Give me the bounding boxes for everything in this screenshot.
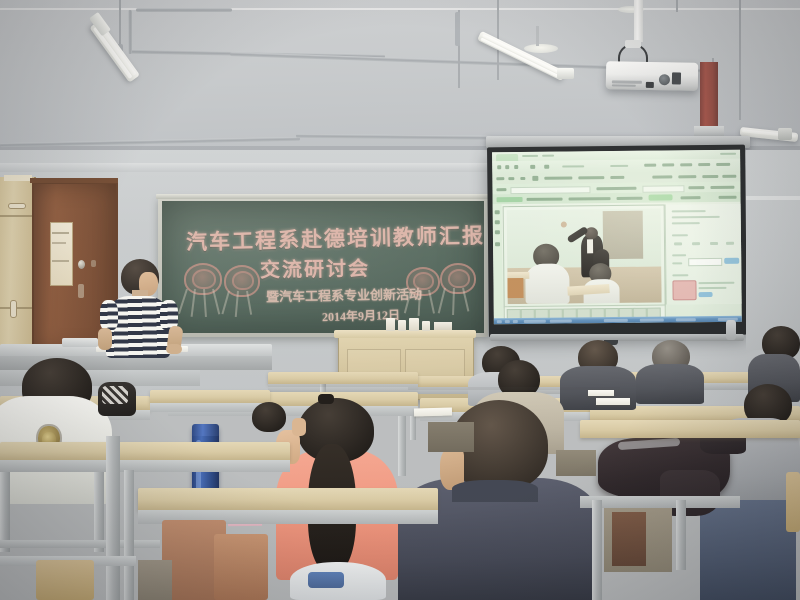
floor-door-glimpse [612, 512, 646, 566]
screen-side-bracket [726, 320, 736, 340]
app-side-panel [665, 204, 742, 305]
desk-front-right-front [580, 496, 740, 508]
depth-shadow-2 [408, 387, 620, 390]
floor-patch-4 [556, 450, 596, 476]
door-handle[interactable] [78, 284, 84, 298]
right-wall-trim [746, 196, 800, 200]
podium-item-2 [398, 320, 406, 331]
door-knob[interactable] [78, 260, 85, 269]
chair-back-bottom-left [36, 560, 94, 600]
attendee-back-right-body [636, 364, 704, 404]
desk-front-right-leg [592, 500, 602, 600]
door-lock [91, 260, 96, 267]
podium-item-4 [422, 321, 430, 331]
desk-row3-top [268, 372, 418, 384]
presenter-sleeve-left [100, 300, 118, 330]
ceiling-rod-cap-2 [455, 12, 460, 46]
attendee-navy-collar [452, 480, 538, 502]
classroom-photo: 汽车工程系赴德培训教师汇报 交流研讨会 暨汽车工程系专业创新活动 2014年9月… [0, 0, 800, 600]
app-panel-button[interactable] [699, 292, 713, 297]
desk-row2-leg [398, 416, 406, 476]
ceiling-projector [606, 61, 698, 91]
projector-bracket [625, 40, 641, 48]
os-taskbar[interactable] [494, 316, 742, 325]
chair-back-bottom-mid2 [214, 534, 268, 600]
blackboard: 汽车工程系赴德培训教师汇报 交流研讨会 暨汽车工程系专业创新活动 2014年9月… [162, 201, 484, 333]
fluorescent-right-ballast [778, 128, 792, 140]
app-green-button[interactable] [649, 194, 673, 200]
cap-logo [308, 572, 344, 588]
projection-screen [492, 150, 742, 325]
desk-paper-5 [588, 390, 614, 396]
desk-front-left-front [0, 460, 290, 472]
conduit-pipe-top [136, 8, 232, 12]
desk-front-mid-top [138, 488, 438, 510]
desk-front-right-top [580, 420, 800, 438]
depth-shadow-1 [268, 384, 418, 387]
presenter [0, 0, 64, 62]
blackboard-subline: 交流研讨会 [260, 252, 370, 283]
wall-cabinet [0, 177, 36, 345]
right-wall-panel [746, 150, 800, 350]
ceiling-rod-1 [119, 0, 121, 48]
app-command-strip [493, 192, 741, 205]
blackboard-top-rail [156, 194, 490, 199]
projection-screen-frame [487, 145, 747, 338]
dome-light-rod [536, 26, 539, 46]
attendee-behind-coral-head [252, 402, 286, 432]
chair-back-right [786, 472, 800, 532]
podium-item-3 [409, 318, 419, 331]
desk-front-left-rail [0, 540, 160, 548]
ceiling-rod-5 [739, 0, 741, 120]
lectern-top [334, 330, 476, 338]
cabinet-handle [10, 300, 17, 318]
podium-paper [434, 322, 452, 330]
door-lintel [30, 178, 118, 183]
presenter-arm-left [98, 328, 112, 350]
teacher-desk-equipment [62, 338, 98, 347]
desk-vertical-frame-1 [106, 436, 120, 600]
attendee-gray-polo-jeans [700, 500, 796, 600]
desk-front-right-leg2 [676, 500, 686, 570]
app-tool-rail [493, 204, 503, 316]
projected-photo [507, 209, 662, 305]
conduit-riser [128, 10, 132, 54]
bag-stripe-pattern [102, 386, 128, 404]
cabinet-top-trim [4, 175, 32, 181]
desk-left2-top [150, 390, 270, 403]
desk-vertical-frame-2 [124, 470, 134, 600]
projector-mount-pole [634, 0, 643, 42]
fluorescent-center-ballast [557, 68, 574, 79]
floor-patch-3 [428, 422, 474, 452]
photo-canvas [503, 204, 666, 308]
attendee-coral-hair-tie [318, 394, 334, 404]
attendee-coral-hand [292, 418, 306, 436]
column-bracket [694, 126, 724, 136]
thermos-cap [192, 424, 219, 436]
desk-front-left-top [0, 442, 290, 460]
ceiling-dome-light [524, 44, 558, 53]
desk-paper-3 [414, 408, 452, 417]
podium-item-1 [386, 318, 395, 331]
floor-patch-1 [138, 560, 172, 600]
desk-left2-front [150, 403, 270, 412]
desk-paper-4 [596, 398, 630, 405]
photo-student-body-1 [525, 264, 569, 304]
app-panel-input[interactable] [688, 258, 722, 266]
ceiling-rod-6 [676, 0, 678, 12]
blackboard-third-line: 暨汽车工程系专业创新活动 [266, 284, 422, 306]
presenter-hand-right [166, 344, 182, 354]
app-confirm-button[interactable] [724, 258, 739, 264]
app-panel-thumbnail[interactable] [672, 280, 696, 300]
blackboard-headline: 汽车工程系赴德培训教师汇报 [186, 220, 486, 257]
